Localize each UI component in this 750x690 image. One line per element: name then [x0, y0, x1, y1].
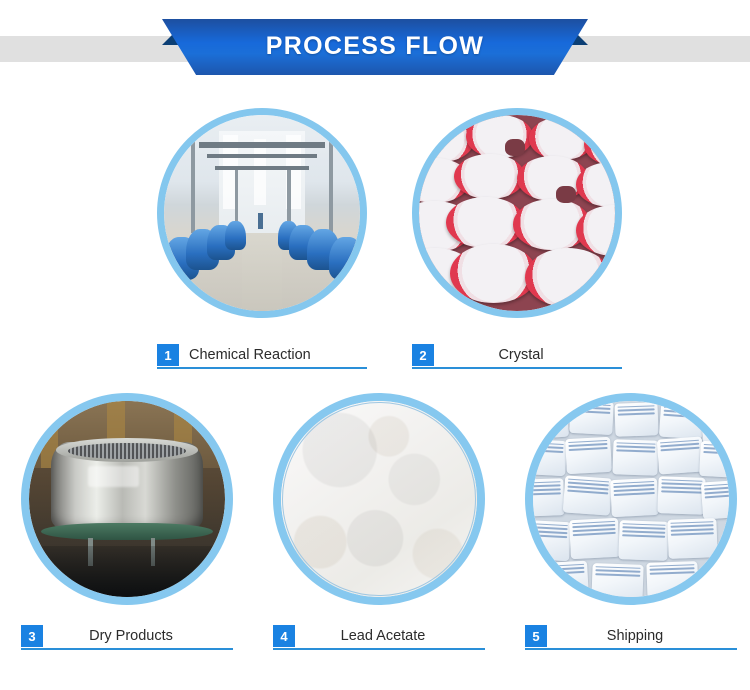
process-labels-top: 1 Chemical Reaction 2 Crystal [0, 343, 750, 369]
chemical-reaction-photo [164, 115, 360, 311]
step-label-4: 4 Lead Acetate [273, 624, 485, 650]
step-label-2: 2 Crystal [412, 343, 622, 369]
process-row-top [0, 108, 750, 318]
step-badge-3: 3 [21, 625, 43, 647]
step-title-1: Chemical Reaction [179, 347, 367, 363]
header-ribbon: PROCESS FLOW [0, 0, 750, 100]
step-badge-5: 5 [525, 625, 547, 647]
step-label-1: 1 Chemical Reaction [157, 343, 367, 369]
process-step-1[interactable] [157, 108, 367, 318]
circle-frame-5 [525, 393, 737, 605]
process-step-5[interactable] [525, 393, 737, 605]
process-step-3[interactable] [21, 393, 233, 605]
step-badge-1: 1 [157, 344, 179, 366]
step-badge-4: 4 [273, 625, 295, 647]
step-label-3: 3 Dry Products [21, 624, 233, 650]
process-labels-bottom: 3 Dry Products 4 Lead Acetate 5 Shipping [0, 624, 750, 650]
crystal-photo [419, 115, 615, 311]
step-title-2: Crystal [434, 347, 622, 363]
circle-frame-2 [412, 108, 622, 318]
circle-frame-3 [21, 393, 233, 605]
process-row-bottom [0, 393, 750, 605]
process-step-4[interactable] [273, 393, 485, 605]
shipping-photo [533, 401, 729, 597]
page-title: PROCESS FLOW [266, 34, 484, 59]
ribbon-banner: PROCESS FLOW [162, 19, 588, 75]
step-title-4: Lead Acetate [295, 628, 485, 644]
step-badge-2: 2 [412, 344, 434, 366]
process-step-2[interactable] [412, 108, 622, 318]
step-label-5: 5 Shipping [525, 624, 737, 650]
page-header: PROCESS FLOW [0, 0, 750, 100]
circle-frame-1 [157, 108, 367, 318]
lead-acetate-photo [281, 401, 477, 597]
step-title-5: Shipping [547, 628, 737, 644]
step-title-3: Dry Products [43, 628, 233, 644]
dry-products-photo [29, 401, 225, 597]
circle-frame-4 [273, 393, 485, 605]
